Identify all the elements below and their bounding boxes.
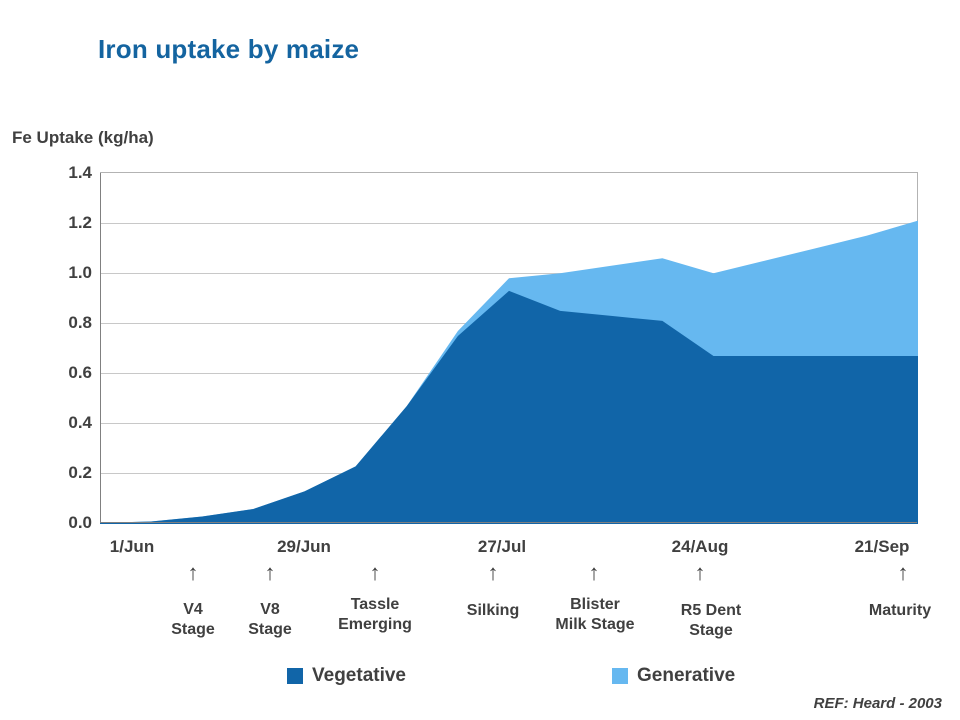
y-tick-0.0: 0.0 [30, 513, 92, 533]
stage-arrow-r5dent: ↑ [670, 562, 730, 584]
legend-label-generative: Generative [637, 665, 735, 687]
chart-plot-area [100, 172, 918, 523]
y-tick-1.4: 1.4 [30, 163, 92, 183]
stage-arrow-blister: ↑ [564, 562, 624, 584]
y-tick-0.4: 0.4 [30, 413, 92, 433]
stage-arrow-maturity: ↑ [873, 562, 933, 584]
x-axis-line [100, 522, 917, 523]
y-axis-line [100, 173, 101, 523]
stage-label-r5dent: R5 DentStage [653, 601, 769, 642]
stage-label-v8: V8Stage [229, 600, 311, 641]
stage-label-maturity: Maturity [845, 601, 955, 621]
y-axis-label: Fe Uptake (kg/ha) [12, 128, 154, 148]
x-tick-24aug: 24/Aug [620, 537, 780, 557]
stage-arrow-v8: ↑ [240, 562, 300, 584]
stage-label-tassle: TassleEmerging [313, 595, 437, 636]
y-tick-0.8: 0.8 [30, 313, 92, 333]
page-title: Iron uptake by maize [98, 34, 359, 65]
area-chart-svg [100, 173, 918, 524]
stage-arrow-silking: ↑ [463, 562, 523, 584]
x-tick-1jun: 1/Jun [52, 537, 212, 557]
stage-arrow-v4: ↑ [163, 562, 223, 584]
legend-swatch-generative [612, 668, 628, 684]
legend-label-vegetative: Vegetative [312, 665, 406, 687]
y-tick-0.6: 0.6 [30, 363, 92, 383]
x-tick-27jul: 27/Jul [422, 537, 582, 557]
stage-arrow-tassle: ↑ [345, 562, 405, 584]
chart-legend: Vegetative Generative [0, 662, 960, 692]
y-tick-0.2: 0.2 [30, 463, 92, 483]
stage-label-blister: BlisterMilk Stage [527, 595, 663, 636]
legend-item-generative[interactable]: Generative [612, 665, 735, 687]
legend-item-vegetative[interactable]: Vegetative [287, 665, 406, 687]
x-tick-21sep: 21/Sep [812, 537, 952, 557]
legend-swatch-vegetative [287, 668, 303, 684]
y-tick-1.0: 1.0 [30, 263, 92, 283]
stage-label-v4: V4Stage [153, 600, 233, 641]
y-tick-1.2: 1.2 [30, 213, 92, 233]
x-tick-29jun: 29/Jun [224, 537, 384, 557]
reference-note: REF: Heard - 2003 [814, 695, 942, 712]
